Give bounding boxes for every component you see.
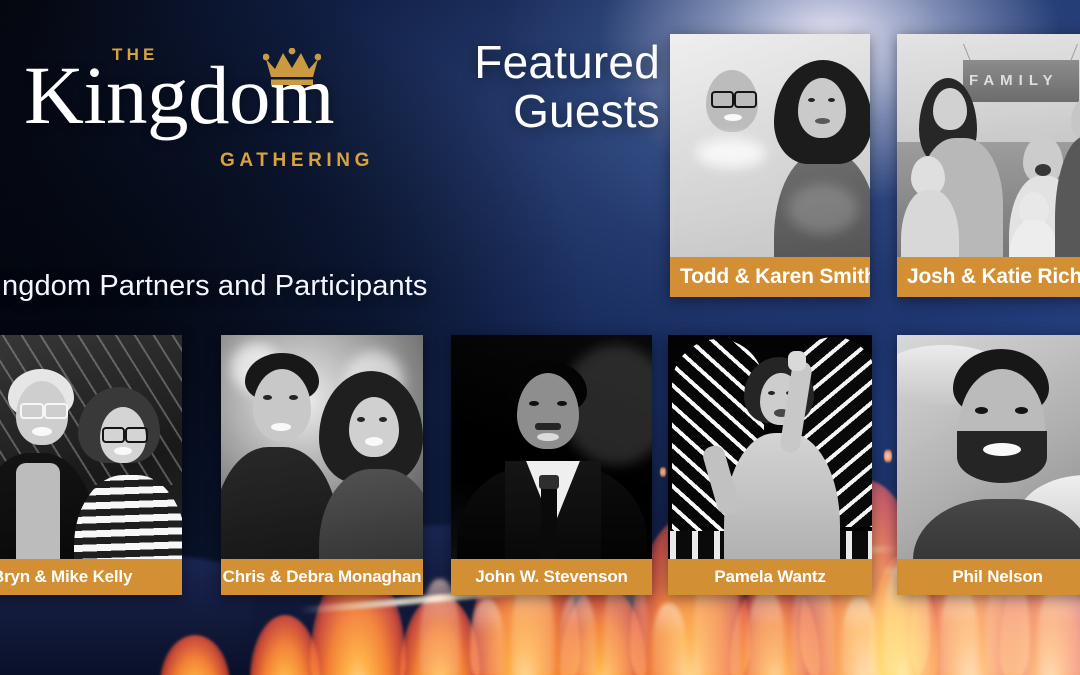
featured-name-josh-katie-richter: Josh & Katie Richter xyxy=(897,257,1080,297)
partner-card-pamela-wantz[interactable]: Pamela Wantz xyxy=(668,335,872,595)
slide-canvas: THE Kingdom GATHERING Featured Guests Ki… xyxy=(0,0,1080,675)
photo-pamela-wantz xyxy=(668,335,872,595)
partner-name-bryn-mike-kelly: Bryn & Mike Kelly xyxy=(0,559,182,595)
partners-heading: Kingdom Partners and Participants xyxy=(0,270,427,303)
photo-chris-debra-monaghan xyxy=(221,335,423,595)
photo-phil-nelson xyxy=(897,335,1080,595)
partner-card-phil-nelson[interactable]: Phil Nelson xyxy=(897,335,1080,595)
photo-john-stevenson xyxy=(451,335,652,595)
logo-gathering-text: GATHERING xyxy=(220,150,374,172)
partner-name-john-stevenson: John W. Stevenson xyxy=(451,559,652,595)
logo-kingdom-text: Kingdom xyxy=(24,54,374,137)
featured-line-2: Guests xyxy=(330,87,660,136)
partner-name-pamela-wantz: Pamela Wantz xyxy=(668,559,872,595)
partner-name-phil-nelson: Phil Nelson xyxy=(897,559,1080,595)
featured-name-todd-karen-smith: Todd & Karen Smith xyxy=(670,257,870,297)
partner-card-john-stevenson[interactable]: John W. Stevenson xyxy=(451,335,652,595)
partner-name-chris-debra-monaghan: Chris & Debra Monaghan xyxy=(221,559,423,595)
featured-card-todd-karen-smith[interactable]: Todd & Karen Smith xyxy=(670,34,870,297)
crown-icon xyxy=(263,48,321,86)
kingdom-gathering-logo: THE Kingdom GATHERING xyxy=(24,42,374,172)
featured-card-josh-katie-richter[interactable]: FAMILY Josh & Katie Richter xyxy=(897,34,1080,297)
partner-card-bryn-mike-kelly[interactable]: Bryn & Mike Kelly xyxy=(0,335,182,595)
photo-bryn-mike-kelly xyxy=(0,335,182,595)
featured-guests-heading: Featured Guests xyxy=(330,38,660,136)
partner-card-chris-debra-monaghan[interactable]: Chris & Debra Monaghan xyxy=(221,335,423,595)
featured-line-1: Featured xyxy=(330,38,660,87)
